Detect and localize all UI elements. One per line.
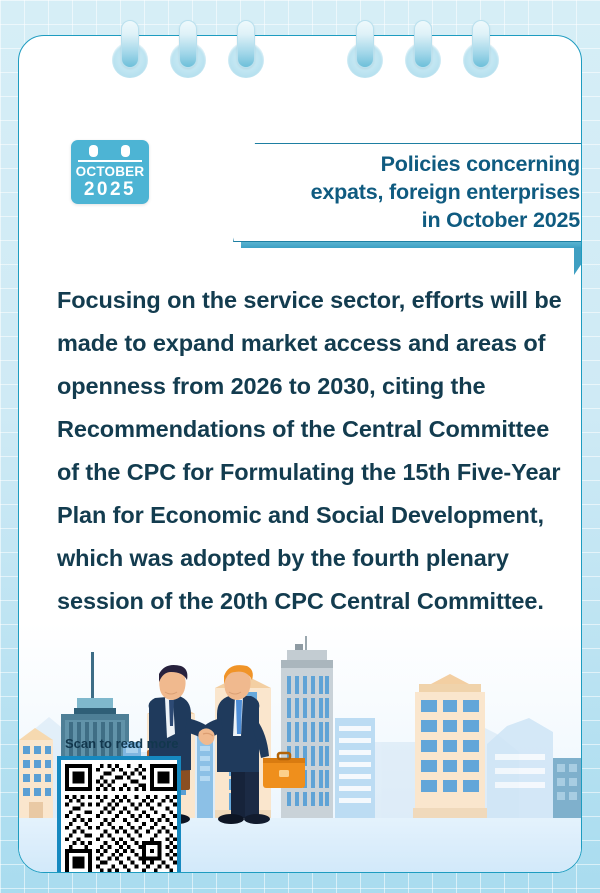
spiral-binder (0, 0, 600, 90)
calendar-year-label: 2025 (71, 179, 149, 201)
binder-ring-5 (403, 20, 443, 72)
building-striped-lightblue (335, 718, 375, 818)
qr-code[interactable] (57, 756, 181, 873)
binder-ring-pin (121, 20, 139, 68)
building-far-left-beige (19, 728, 53, 818)
title-line-2: expats, foreign enterprises (311, 178, 580, 206)
calendar-icon: OCTOBER 2025 (71, 140, 149, 204)
calendar-ring-hole-left (89, 145, 98, 157)
title-banner: Policies concerning expats, foreign ente… (233, 143, 582, 242)
binder-ring-2 (168, 20, 208, 72)
body-paragraph: Focusing on the service sector, efforts … (57, 279, 577, 623)
binder-ring-1 (110, 20, 150, 72)
calendar-month-label: OCTOBER (71, 164, 149, 179)
binder-ring-3 (226, 20, 266, 72)
infographic-page: OCTOBER 2025 Policies concerning expats,… (0, 0, 600, 893)
calendar-divider (78, 160, 142, 162)
binder-ring-pin (237, 20, 255, 68)
binder-ring-pin (179, 20, 197, 68)
banner-tail-triangle (574, 247, 582, 275)
title-line-1: Policies concerning (311, 150, 580, 178)
building-right-classical-beige (413, 674, 487, 818)
title-banner-wrapper: Policies concerning expats, foreign ente… (233, 143, 582, 253)
calendar-ring-hole-right (121, 145, 130, 157)
building-grey-corporate-tower (281, 636, 333, 818)
binder-ring-pin (472, 20, 490, 68)
qr-block: Scan to read more (57, 736, 181, 873)
note-card: OCTOBER 2025 Policies concerning expats,… (18, 35, 582, 873)
title-line-3: in October 2025 (311, 206, 580, 234)
binder-ring-4 (345, 20, 385, 72)
qr-code-image[interactable] (65, 764, 177, 873)
binder-ring-pin (356, 20, 374, 68)
qr-caption: Scan to read more (65, 736, 181, 751)
title-text-block: Policies concerning expats, foreign ente… (311, 150, 580, 234)
binder-ring-pin (414, 20, 432, 68)
building-far-right-slim (553, 758, 581, 818)
binder-ring-6 (461, 20, 501, 72)
